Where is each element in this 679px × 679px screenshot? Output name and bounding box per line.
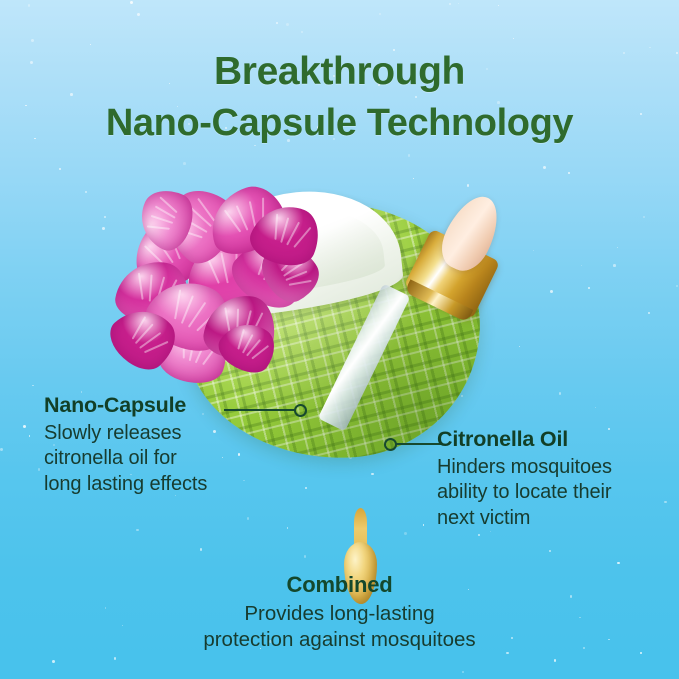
infographic-canvas: Breakthrough Nano-Capsule Technology Nan… bbox=[0, 0, 679, 679]
callout-description: Provides long-lasting protection against… bbox=[0, 601, 679, 653]
sparkle-dot bbox=[85, 191, 87, 193]
leader-endpoint-dot bbox=[294, 404, 307, 417]
petal-vein bbox=[289, 280, 312, 286]
callout-description: Hinders mosquitoes ability to locate the… bbox=[437, 455, 672, 532]
sparkle-dot bbox=[38, 468, 41, 471]
petal-vein bbox=[138, 272, 144, 299]
sparkle-dot bbox=[613, 264, 616, 267]
sparkle-dot bbox=[52, 660, 55, 663]
sparkle-dot bbox=[130, 1, 133, 4]
callout-description-line: long lasting effects bbox=[44, 472, 284, 498]
sparkle-dot bbox=[458, 3, 459, 4]
sparkle-dot bbox=[28, 4, 31, 7]
sparkle-dot bbox=[617, 562, 620, 565]
callout-description-line: Hinders mosquitoes bbox=[437, 455, 672, 481]
sparkle-dot bbox=[136, 529, 138, 531]
sparkle-dot bbox=[550, 290, 553, 293]
callout-description-line: Provides long-lasting bbox=[0, 601, 679, 627]
sparkle-dot bbox=[114, 657, 116, 659]
petal-vein bbox=[274, 214, 278, 240]
sparkle-dot bbox=[200, 548, 203, 551]
sparkle-dot bbox=[90, 44, 91, 45]
callout-combined: Combined Provides long-lasting protectio… bbox=[0, 572, 679, 653]
callout-description-line: next victim bbox=[437, 506, 672, 532]
sparkle-dot bbox=[559, 392, 562, 395]
sparkle-dot bbox=[413, 178, 414, 179]
sparkle-dot bbox=[137, 13, 140, 16]
sparkle-dot bbox=[286, 23, 289, 26]
callout-description-line: Slowly releases bbox=[44, 421, 284, 447]
sparkle-dot bbox=[276, 22, 278, 24]
petal-vein bbox=[148, 274, 152, 301]
citronella-geranium-flower bbox=[113, 185, 323, 400]
sparkle-dot bbox=[183, 162, 186, 165]
petal-vein bbox=[147, 225, 170, 229]
sparkle-dot bbox=[543, 166, 546, 169]
sparkle-dot bbox=[595, 407, 597, 409]
callout-description-line: citronella oil for bbox=[44, 446, 284, 472]
sparkle-dot bbox=[32, 385, 33, 386]
petal-vein bbox=[220, 253, 228, 284]
sparkle-dot bbox=[568, 172, 570, 174]
sparkle-dot bbox=[29, 435, 31, 437]
sparkle-dot bbox=[247, 517, 249, 519]
sparkle-dot bbox=[648, 312, 650, 314]
sparkle-dot bbox=[581, 265, 582, 266]
sparkle-dot bbox=[301, 31, 303, 33]
sparkle-dot bbox=[513, 38, 514, 39]
callout-label: Combined bbox=[0, 572, 679, 598]
title-line-2: Nano-Capsule Technology bbox=[0, 98, 679, 149]
sparkle-dot bbox=[462, 671, 464, 673]
sparkle-dot bbox=[59, 168, 62, 171]
callout-description: Slowly releases citronella oil for long … bbox=[44, 421, 284, 498]
petal-vein bbox=[151, 216, 173, 225]
callout-label: Citronella Oil bbox=[437, 428, 672, 452]
sparkle-dot bbox=[408, 154, 411, 157]
sparkle-dot bbox=[676, 285, 679, 288]
sparkle-dot bbox=[379, 13, 381, 15]
leader-endpoint-dot bbox=[384, 438, 397, 451]
sparkle-dot bbox=[0, 448, 3, 451]
leader-line-segment bbox=[395, 443, 442, 445]
sparkle-dot bbox=[305, 487, 307, 489]
dropper-glass-tube bbox=[318, 283, 411, 431]
page-title: Breakthrough Nano-Capsule Technology bbox=[0, 46, 679, 148]
sparkle-dot bbox=[23, 425, 26, 428]
sparkle-dot bbox=[449, 3, 451, 5]
callout-citronella-oil: Citronella Oil Hinders mosquitoes abilit… bbox=[437, 428, 672, 531]
sparkle-dot bbox=[588, 287, 590, 289]
sparkle-dot bbox=[617, 247, 618, 248]
sparkle-dot bbox=[287, 527, 289, 529]
sparkle-dot bbox=[554, 659, 557, 662]
sparkle-dot bbox=[498, 5, 500, 7]
sparkle-dot bbox=[304, 555, 307, 558]
petal-vein bbox=[174, 289, 181, 319]
sparkle-dot bbox=[31, 39, 34, 42]
callout-nano-capsule: Nano-Capsule Slowly releases citronella … bbox=[44, 394, 284, 497]
sparkle-dot bbox=[643, 216, 645, 218]
callout-description-line: protection against mosquitoes bbox=[0, 627, 679, 653]
callout-label: Nano-Capsule bbox=[44, 394, 284, 418]
title-line-1: Breakthrough bbox=[214, 50, 465, 93]
callout-description-line: ability to locate their bbox=[437, 480, 672, 506]
